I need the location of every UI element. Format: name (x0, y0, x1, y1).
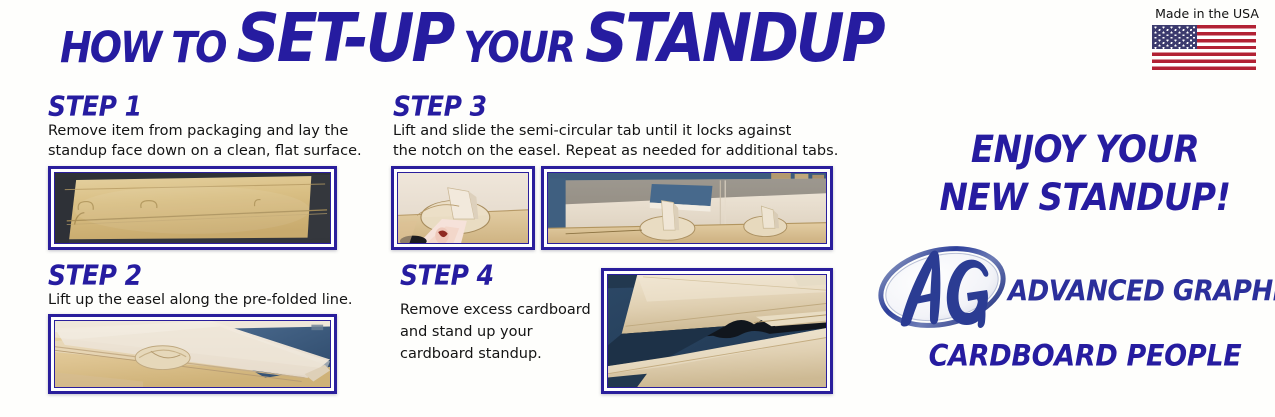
us-flag-icon (1152, 25, 1262, 75)
step-3-line-1: Lift and slide the semi-circular tab unt… (393, 121, 791, 141)
step-3-photo-left (391, 166, 535, 250)
step-4-photo (601, 268, 833, 394)
step-4-line-1: Remove excess cardboard (400, 300, 591, 320)
step-2-photo (48, 314, 337, 394)
brand-name: ADVANCED GRAPHICS (1008, 276, 1275, 308)
step-2-title: STEP 2 (48, 259, 142, 291)
page-title-part-4: STANDUP (585, 0, 883, 78)
step-4-title: STEP 4 (400, 259, 494, 291)
step-2-line-1: Lift up the easel along the pre-folded l… (48, 290, 353, 310)
ag-monogram-logo (875, 240, 1010, 335)
step-1-line-2: standup face down on a clean, flat surfa… (48, 141, 362, 161)
brand-tagline: CARDBOARD PEOPLE (895, 340, 1275, 373)
promo-line-2: NEW STANDUP! (895, 176, 1275, 220)
step-4-line-3: cardboard standup. (400, 344, 542, 364)
made-in-usa-label: Made in the USA (1152, 6, 1262, 21)
step-3-title: STEP 3 (393, 90, 487, 122)
step-1-photo (48, 166, 337, 250)
step-3-photo-right (541, 166, 833, 250)
made-in-usa-badge: Made in the USA (1152, 6, 1262, 75)
step-4-line-2: and stand up your (400, 322, 533, 342)
page-title: HOW TO SET-UP YOUR STANDUP (60, 8, 883, 78)
page-title-part-3: YOUR (463, 23, 574, 72)
page-title-part-2: SET-UP (236, 0, 452, 78)
step-3-line-2: the notch on the easel. Repeat as needed… (393, 141, 838, 161)
promo-line-1: ENJOY YOUR (895, 128, 1275, 172)
instruction-sheet: HOW TO SET-UP YOUR STANDUP Made in the U… (0, 0, 1275, 417)
step-1-title: STEP 1 (48, 90, 142, 122)
step-1-line-1: Remove item from packaging and lay the (48, 121, 348, 141)
page-title-part-1: HOW TO (60, 23, 225, 72)
